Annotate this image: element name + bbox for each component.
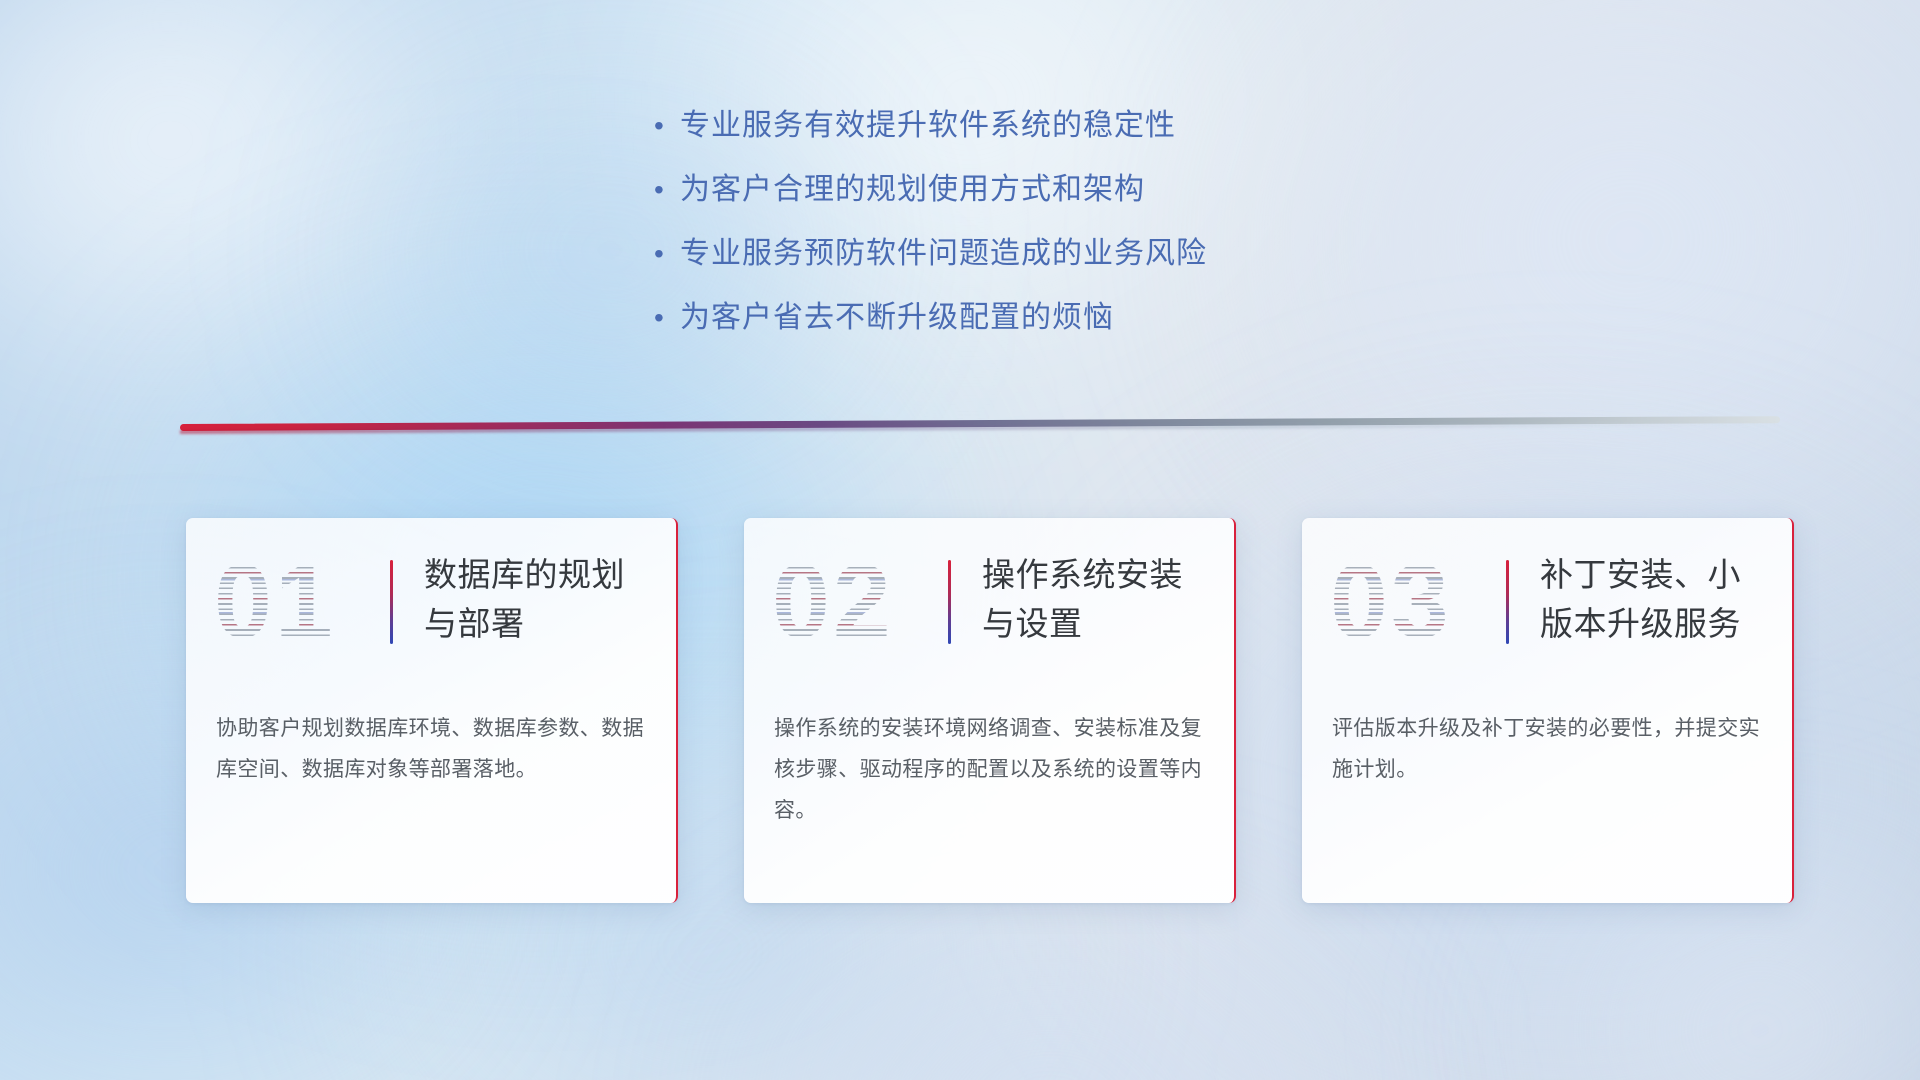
list-item-label: 为客户合理的规划使用方式和架构 bbox=[680, 170, 1145, 210]
card-title: 操作系统安装与设置 bbox=[982, 550, 1214, 648]
card-number-blue-overlay: 01 bbox=[214, 546, 336, 658]
card-title: 补丁安装、小版本升级服务 bbox=[1540, 550, 1772, 648]
list-item-label: 为客户省去不断升级配置的烦恼 bbox=[680, 298, 1114, 338]
card-accent-bar bbox=[1506, 560, 1509, 644]
card-header: 03 03 03 补丁安装、小版本升级服务 bbox=[1302, 518, 1792, 688]
list-item-label: 专业服务有效提升软件系统的稳定性 bbox=[680, 106, 1176, 146]
card-body-text: 操作系统的安装环境网络调查、安装标准及复核步骤、驱动程序的配置以及系统的设置等内… bbox=[774, 708, 1208, 831]
service-card[interactable]: 03 03 03 补丁安装、小版本升级服务 评估版本升级及补丁安装的必要性，并提… bbox=[1302, 518, 1794, 903]
card-number-blue-overlay: 02 bbox=[772, 546, 894, 658]
section-divider bbox=[180, 424, 1780, 440]
card-number-watermark: 03 03 03 bbox=[1330, 546, 1480, 658]
card-body-text: 评估版本升级及补丁安装的必要性，并提交实施计划。 bbox=[1332, 708, 1766, 790]
bullet-dot-icon: • bbox=[646, 106, 680, 146]
list-item-label: 专业服务预防软件问题造成的业务风险 bbox=[680, 234, 1207, 274]
list-item: • 为客户合理的规划使用方式和架构 bbox=[646, 170, 1406, 234]
service-card[interactable]: 02 02 02 操作系统安装与设置 操作系统的安装环境网络调查、安装标准及复核… bbox=[744, 518, 1236, 903]
card-accent-bar bbox=[948, 560, 951, 644]
card-body-text: 协助客户规划数据库环境、数据库参数、数据库空间、数据库对象等部署落地。 bbox=[216, 708, 650, 790]
card-header: 02 02 02 操作系统安装与设置 bbox=[744, 518, 1234, 688]
bullet-dot-icon: • bbox=[646, 234, 680, 274]
benefits-bullet-list: • 专业服务有效提升软件系统的稳定性 • 为客户合理的规划使用方式和架构 • 专… bbox=[646, 106, 1406, 362]
service-card[interactable]: 01 01 01 数据库的规划与部署 协助客户规划数据库环境、数据库参数、数据库… bbox=[186, 518, 678, 903]
card-number-watermark: 02 02 02 bbox=[772, 546, 922, 658]
list-item: • 专业服务有效提升软件系统的稳定性 bbox=[646, 106, 1406, 170]
list-item: • 为客户省去不断升级配置的烦恼 bbox=[646, 298, 1406, 362]
card-title: 数据库的规划与部署 bbox=[424, 550, 656, 648]
card-header: 01 01 01 数据库的规划与部署 bbox=[186, 518, 676, 688]
bullet-dot-icon: • bbox=[646, 170, 680, 210]
card-accent-bar bbox=[390, 560, 393, 644]
card-number-watermark: 01 01 01 bbox=[214, 546, 364, 658]
bullet-dot-icon: • bbox=[646, 298, 680, 338]
card-number-blue-overlay: 03 bbox=[1330, 546, 1452, 658]
service-card-group: 01 01 01 数据库的规划与部署 协助客户规划数据库环境、数据库参数、数据库… bbox=[186, 518, 1866, 918]
list-item: • 专业服务预防软件问题造成的业务风险 bbox=[646, 234, 1406, 298]
